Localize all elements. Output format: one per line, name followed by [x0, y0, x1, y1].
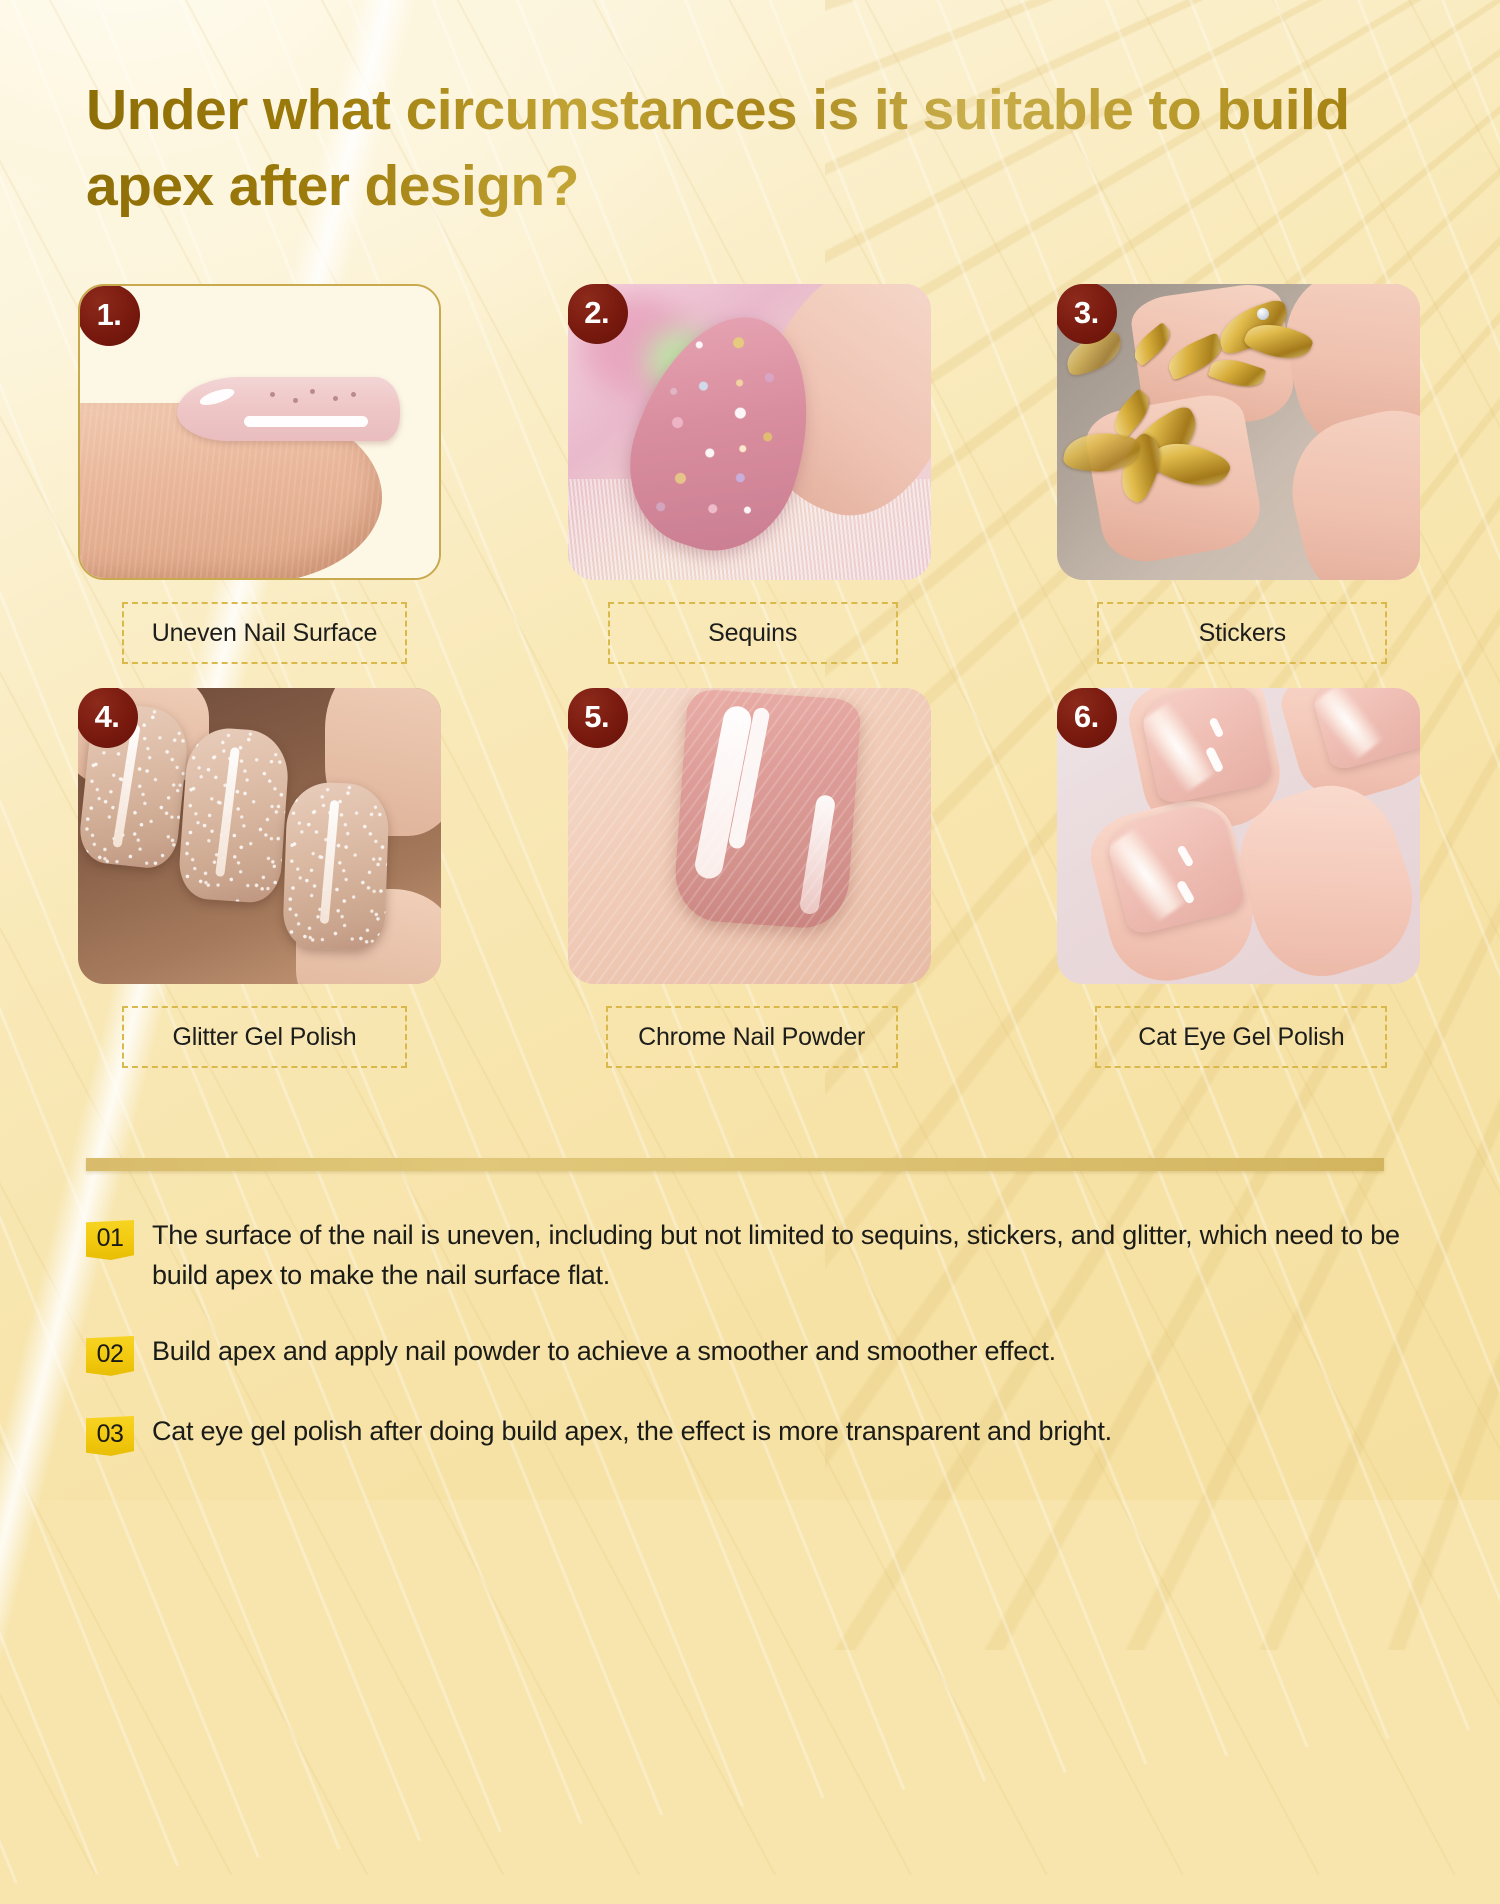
note-number-label: 01 [86, 1220, 134, 1260]
card-label: Glitter Gel Polish [122, 1006, 407, 1068]
note-text: Cat eye gel polish after doing build ape… [152, 1412, 1112, 1456]
uneven-nail-surface-photo: 1. [78, 284, 441, 580]
glitter-gel-polish-photo: 4. [78, 688, 441, 984]
section-divider [86, 1158, 1384, 1171]
note-number-tag: 02 [86, 1336, 134, 1376]
card-glitter-gel-polish: 4. Glitter Gel Polish [78, 688, 443, 1068]
note-number-label: 03 [86, 1416, 134, 1456]
card-label: Sequins [608, 602, 898, 664]
note-item: 01 The surface of the nail is uneven, in… [86, 1216, 1426, 1296]
card-number-badge: 5. [568, 688, 628, 748]
card-number-badge: 2. [568, 284, 628, 344]
page-title: Under what circumstances is it suitable … [86, 72, 1376, 225]
note-text: Build apex and apply nail powder to achi… [152, 1332, 1056, 1376]
card-stickers: 3. Stickers [1057, 284, 1422, 664]
stickers-nail-photo: 3. [1057, 284, 1420, 580]
note-number-tag: 03 [86, 1416, 134, 1456]
cat-eye-gel-polish-photo: 6. [1057, 688, 1420, 984]
notes-list: 01 The surface of the nail is uneven, in… [86, 1216, 1426, 1456]
card-label: Cat Eye Gel Polish [1095, 1006, 1387, 1068]
card-sequins: 2. Sequins [568, 284, 933, 664]
card-label: Stickers [1097, 602, 1387, 664]
card-number-badge: 1. [78, 284, 140, 346]
card-label: Uneven Nail Surface [122, 602, 407, 664]
note-number-label: 02 [86, 1336, 134, 1376]
sequins-nail-photo: 2. [568, 284, 931, 580]
chrome-nail-powder-photo: 5. [568, 688, 931, 984]
card-cat-eye-gel-polish: 6. Cat Eye Gel Polish [1057, 688, 1422, 1068]
card-uneven-nail-surface: 1. Uneven Nail Surface [78, 284, 443, 664]
note-number-tag: 01 [86, 1220, 134, 1260]
note-item: 02 Build apex and apply nail powder to a… [86, 1332, 1426, 1376]
card-chrome-nail-powder: 5. Chrome Nail Powder [568, 688, 933, 1068]
note-item: 03 Cat eye gel polish after doing build … [86, 1412, 1426, 1456]
note-text: The surface of the nail is uneven, inclu… [152, 1216, 1420, 1296]
cards-grid: 1. Uneven Nail Surface 2. Sequins [78, 284, 1422, 1068]
card-label: Chrome Nail Powder [606, 1006, 898, 1068]
infographic-page: Under what circumstances is it suitable … [0, 0, 1500, 1500]
